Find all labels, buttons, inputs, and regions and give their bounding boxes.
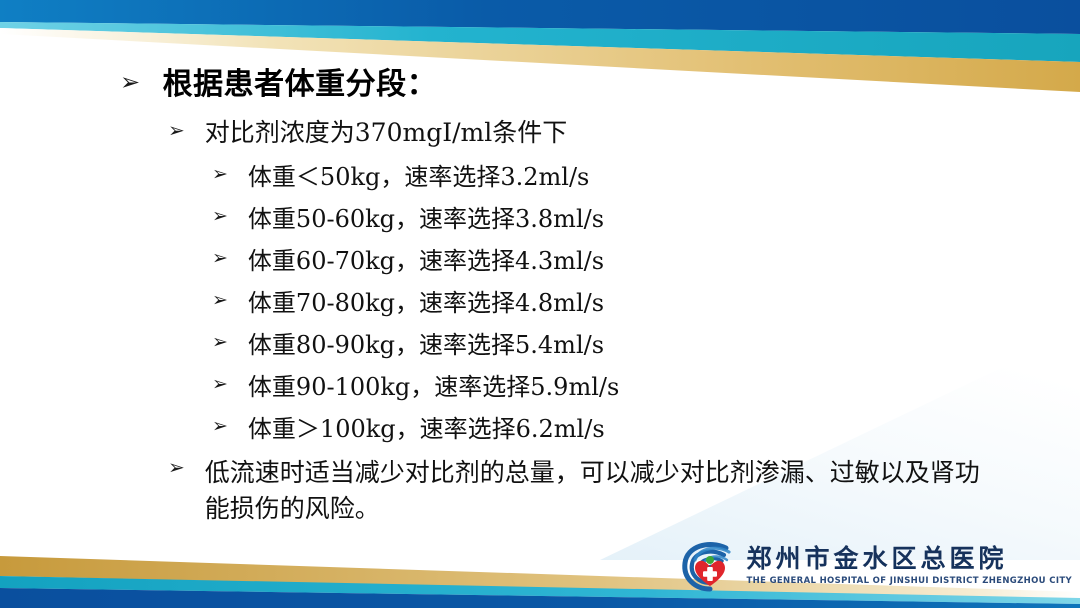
list-item: ➢ 体重50-60kg，速率选择3.8ml/s [212, 205, 604, 234]
hospital-name-cn: 郑州市金水区总医院 [747, 546, 1073, 572]
weight-rate-text: 体重90-100kg，速率选择5.9ml/s [248, 373, 619, 402]
weight-rate-text: 体重80-90kg，速率选择5.4ml/s [248, 331, 604, 360]
heading-bullet-item: ➢ 根据患者体重分段： [120, 68, 437, 103]
page-title: 根据患者体重分段： [163, 68, 438, 103]
weight-rate-text: 体重70-80kg，速率选择4.8ml/s [248, 289, 604, 318]
logo-text-block: 郑州市金水区总医院 THE GENERAL HOSPITAL OF JINSHU… [747, 546, 1073, 585]
weight-rate-text: 体重60-70kg，速率选择4.3ml/s [248, 247, 604, 276]
slide-content: ➢ 根据患者体重分段： ➢ 对比剂浓度为370mgI/ml条件下 ➢ 体重＜50… [0, 0, 1080, 608]
arrow-bullet-icon: ➢ [212, 249, 228, 268]
arrow-bullet-icon: ➢ [168, 120, 185, 140]
hospital-swirl-heart-icon [679, 538, 741, 594]
weight-rate-text: 体重＞100kg，速率选择6.2ml/s [248, 415, 605, 444]
hospital-logo: 郑州市金水区总医院 THE GENERAL HOSPITAL OF JINSHU… [679, 538, 1073, 594]
arrow-bullet-icon: ➢ [212, 207, 228, 226]
arrow-bullet-icon: ➢ [168, 457, 185, 477]
list-item: ➢ 体重＜50kg，速率选择3.2ml/s [212, 163, 589, 192]
weight-rate-text: 体重50-60kg，速率选择3.8ml/s [248, 205, 604, 234]
note-text: 低流速时适当减少对比剂的总量，可以减少对比剂渗漏、过敏以及肾功能损伤的风险。 [205, 455, 995, 526]
weight-rate-text: 体重＜50kg，速率选择3.2ml/s [248, 163, 589, 192]
slide: ➢ 根据患者体重分段： ➢ 对比剂浓度为370mgI/ml条件下 ➢ 体重＜50… [0, 0, 1080, 608]
list-item: ➢ 体重＞100kg，速率选择6.2ml/s [212, 415, 605, 444]
note-bullet-item: ➢ 低流速时适当减少对比剂的总量，可以减少对比剂渗漏、过敏以及肾功能损伤的风险。 [168, 455, 995, 526]
subheading-bullet-item: ➢ 对比剂浓度为370mgI/ml条件下 [168, 118, 567, 148]
list-item: ➢ 体重70-80kg，速率选择4.8ml/s [212, 289, 604, 318]
arrow-bullet-icon: ➢ [212, 417, 228, 436]
arrow-bullet-icon: ➢ [212, 291, 228, 310]
arrow-bullet-icon: ➢ [120, 70, 141, 94]
arrow-bullet-icon: ➢ [212, 165, 228, 184]
list-item: ➢ 体重90-100kg，速率选择5.9ml/s [212, 373, 619, 402]
list-item: ➢ 体重60-70kg，速率选择4.3ml/s [212, 247, 604, 276]
subheading-text: 对比剂浓度为370mgI/ml条件下 [205, 118, 567, 148]
hospital-name-en: THE GENERAL HOSPITAL OF JINSHUI DISTRICT… [747, 576, 1073, 586]
arrow-bullet-icon: ➢ [212, 375, 228, 394]
arrow-bullet-icon: ➢ [212, 333, 228, 352]
list-item: ➢ 体重80-90kg，速率选择5.4ml/s [212, 331, 604, 360]
